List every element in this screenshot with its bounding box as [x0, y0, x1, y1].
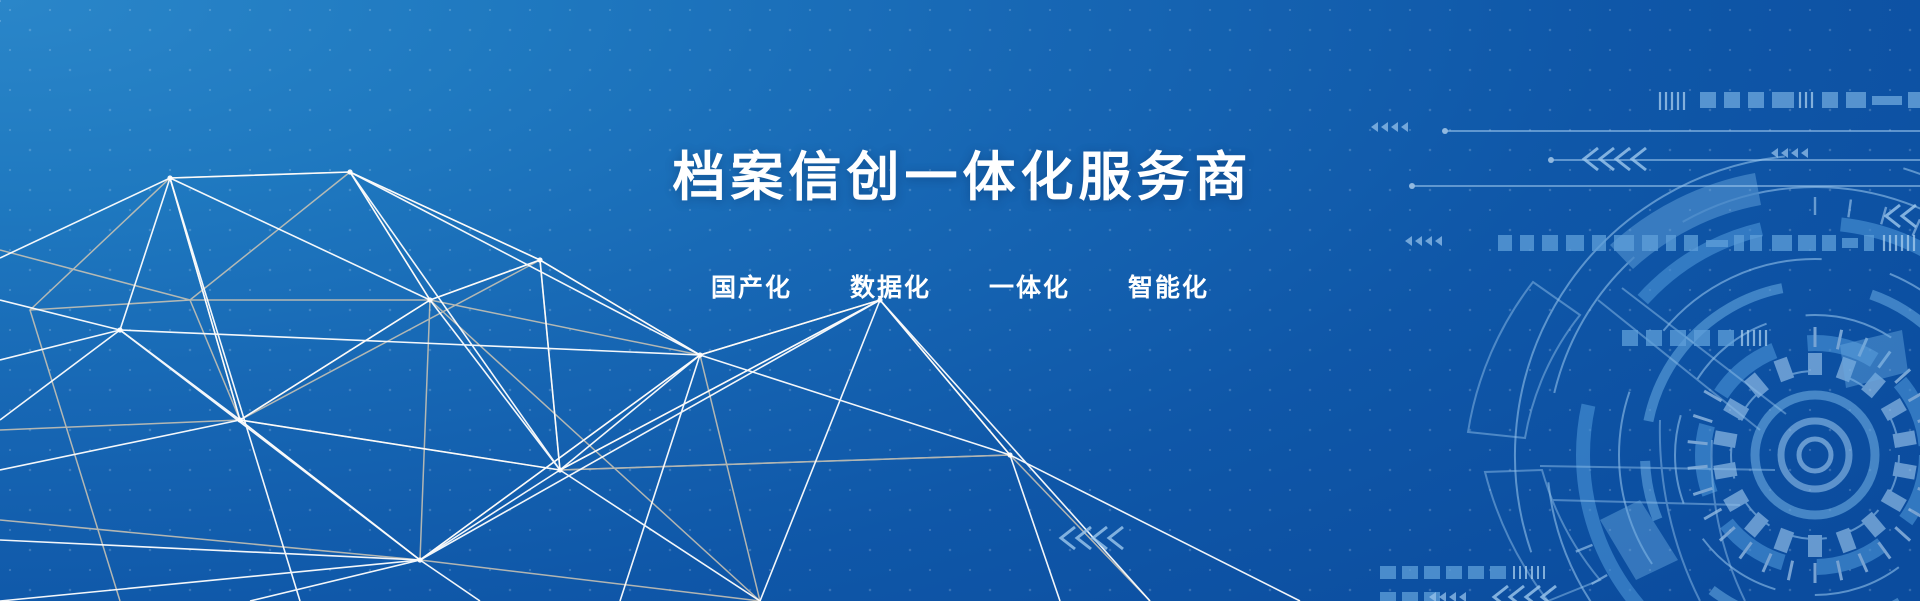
keyword-item-1: 数据化 [850, 268, 931, 304]
hero-text-block: 档案信创一体化服务商 国产化数据化一体化智能化 [0, 150, 1920, 304]
keyword-list: 国产化数据化一体化智能化 [0, 206, 1920, 304]
hero-banner: 档案信创一体化服务商 国产化数据化一体化智能化 [0, 0, 1920, 601]
keyword-item-0: 国产化 [711, 268, 792, 304]
page-title: 档案信创一体化服务商 [0, 150, 1920, 206]
keyword-item-3: 智能化 [1128, 268, 1209, 304]
keyword-item-2: 一体化 [989, 268, 1070, 304]
